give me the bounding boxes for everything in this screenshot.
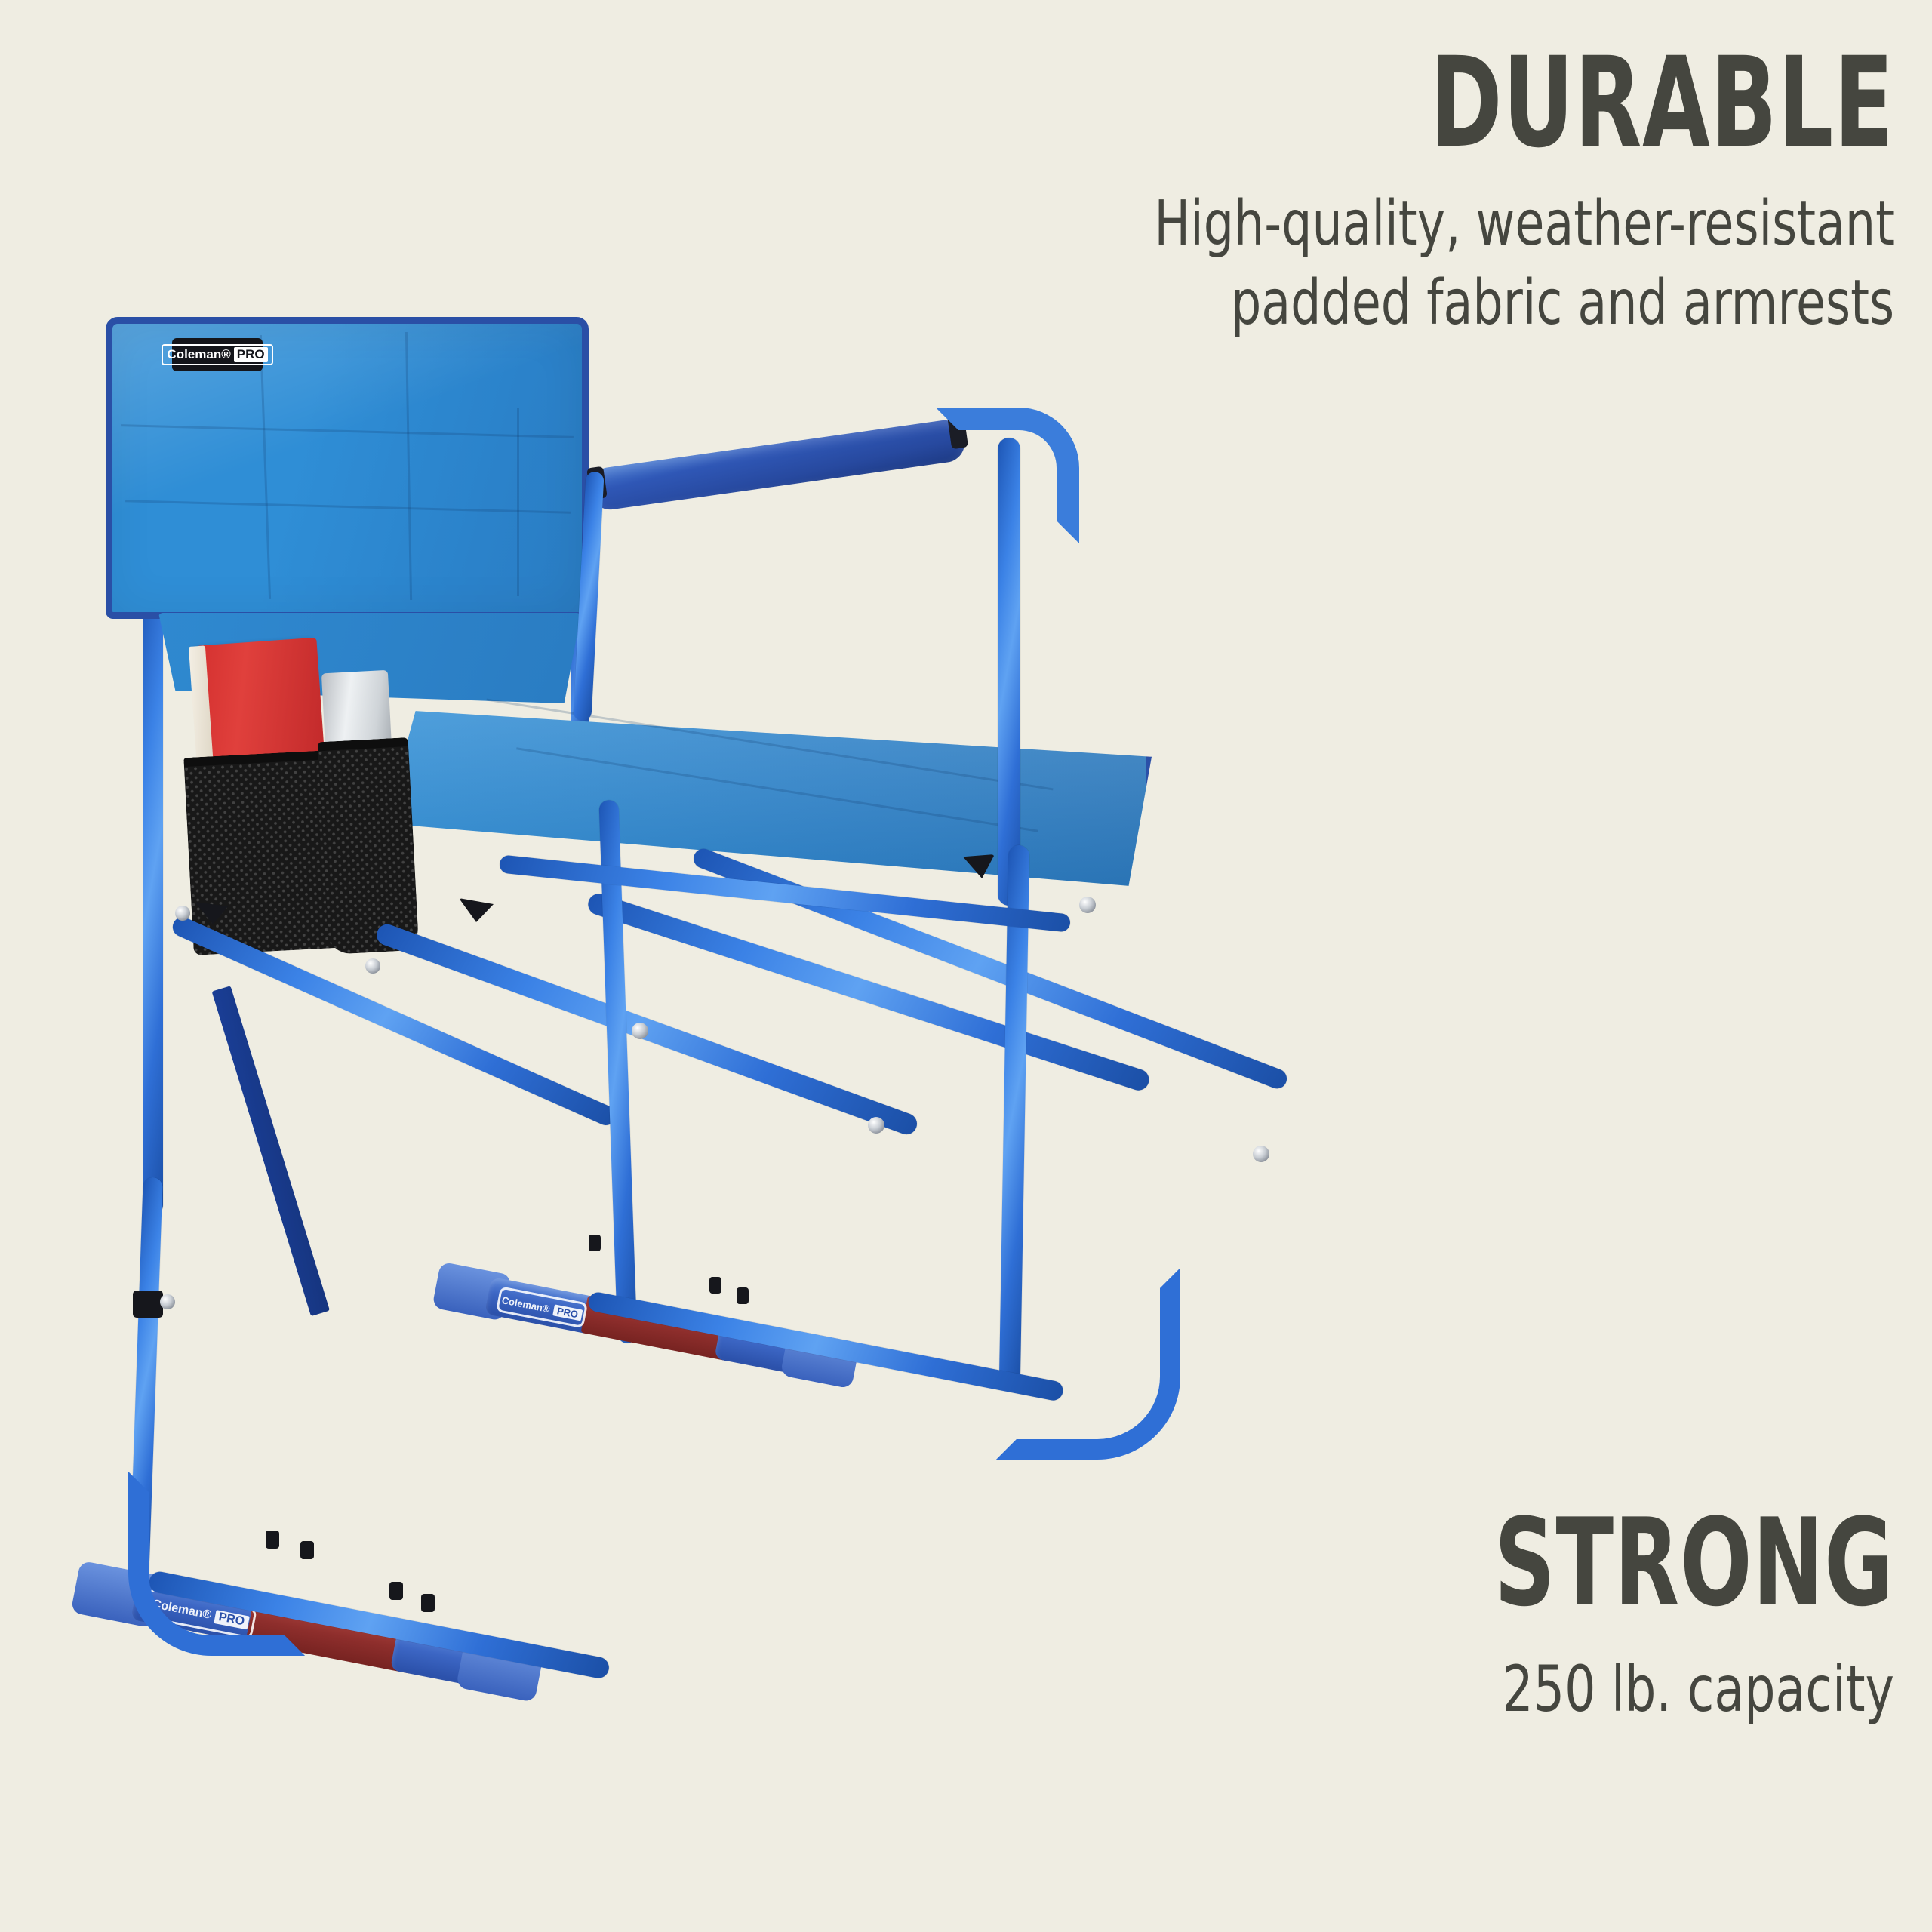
brand-tag-coleman: Coleman® (167, 347, 230, 362)
rail-bolt-5 (589, 1235, 601, 1251)
rivet-7 (160, 1294, 175, 1309)
armrest-elbow (936, 408, 1079, 543)
top-callout: DURABLE High-quality, weather-resistant … (762, 44, 1894, 343)
rocker-curve-left (128, 1472, 305, 1656)
rail-bolt-3 (389, 1582, 403, 1600)
webbing-strap (212, 986, 330, 1316)
rear-badge-pro: PRO (552, 1304, 583, 1321)
chair-backrest: Coleman® PRO (106, 317, 589, 619)
rail-bolt-6 (709, 1277, 721, 1294)
rivet-5 (868, 1117, 884, 1134)
quilt-line-v3 (517, 408, 519, 596)
product-feature-card: DURABLE High-quality, weather-resistant … (0, 0, 1932, 1932)
rivet-6 (1253, 1146, 1269, 1162)
product-photo: Coleman® PRO (60, 317, 1464, 1902)
rivet-3 (632, 1023, 648, 1039)
durable-description-line-1: High-quality, weather-resistant (921, 185, 1894, 264)
rear-left-leg (143, 566, 163, 1215)
rail-bolt-2 (300, 1541, 314, 1559)
rail-bolt-1 (266, 1531, 279, 1549)
frame-bracket-2 (459, 898, 494, 922)
rail-bolt-7 (737, 1287, 749, 1304)
rail-bolt-4 (421, 1594, 435, 1612)
brand-tag-pro: PRO (234, 347, 268, 362)
durable-headline: DURABLE (1011, 44, 1894, 162)
brand-tag: Coleman® PRO (172, 338, 263, 371)
mesh-cup-holder (318, 737, 420, 955)
rocker-curve-right (996, 1268, 1180, 1460)
rivet-1 (175, 906, 190, 921)
chair-seat (385, 694, 1152, 903)
foot-rail-rear: Coleman® PRO (432, 1266, 854, 1384)
rear-badge-coleman: Coleman® (501, 1294, 551, 1315)
strap-buckle (133, 1291, 163, 1318)
rivet-2 (365, 958, 380, 974)
armrest-pad (588, 417, 968, 512)
rivet-4 (1079, 897, 1096, 913)
